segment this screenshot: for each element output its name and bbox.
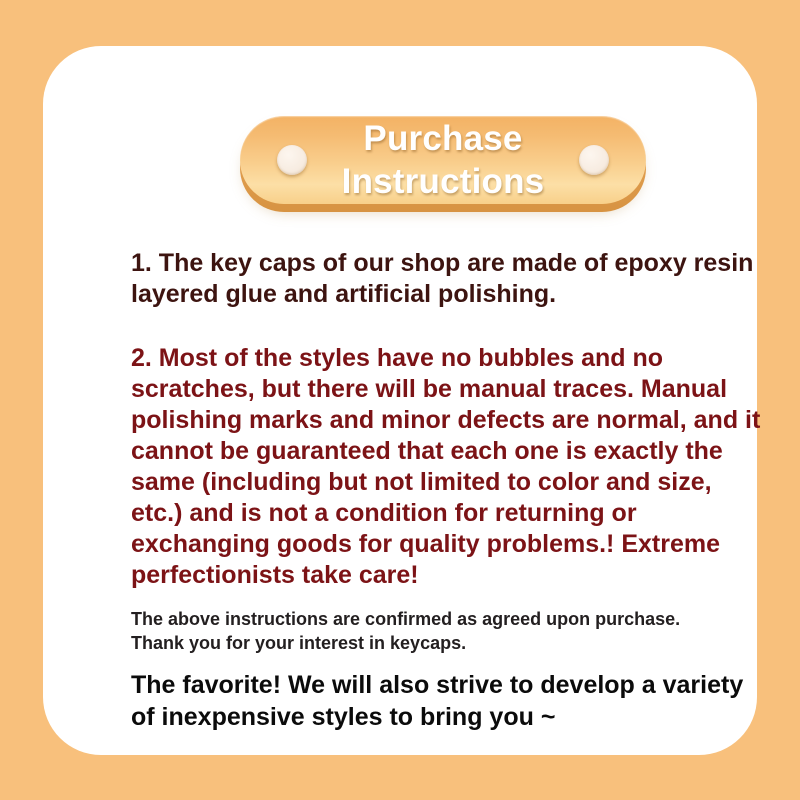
instruction-paragraph-1: 1. The key caps of our shop are made of … [131, 248, 769, 310]
content-card: Purchase Instructions 1. The key caps of… [43, 46, 757, 755]
screw-pin-left-icon [277, 145, 307, 175]
instruction-paragraph-2: 2. Most of the styles have no bubbles an… [131, 343, 769, 591]
purchase-instructions-banner: Purchase Instructions [240, 116, 646, 212]
closing-message: The favorite! We will also strive to dev… [131, 669, 769, 733]
agreement-note: The above instructions are confirmed as … [131, 607, 769, 655]
page-root: Purchase Instructions 1. The key caps of… [0, 0, 800, 800]
screw-pin-right-icon [579, 145, 609, 175]
